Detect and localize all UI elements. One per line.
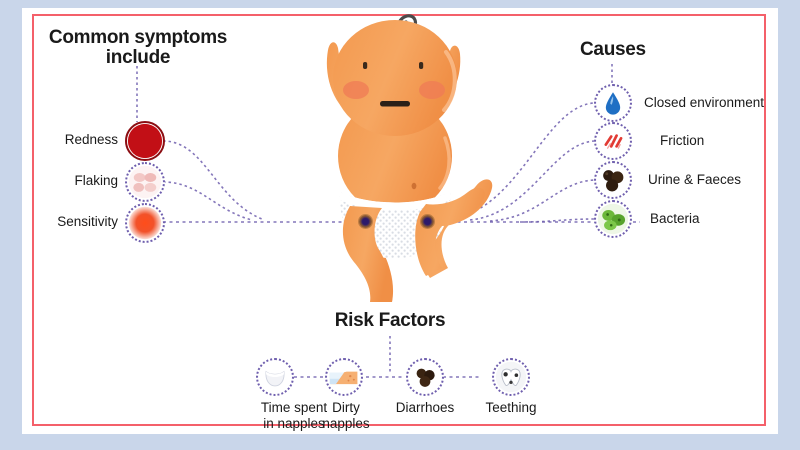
leg-connector-dot-right: [421, 215, 434, 228]
bacteria-icon: [594, 200, 632, 238]
water-drop-icon: [594, 84, 632, 122]
friction-icon: [594, 122, 632, 160]
baby-illustration: [280, 6, 510, 306]
sensitivity-icon: [125, 203, 165, 243]
cause-urine-faeces[interactable]: Urine & Faeces: [594, 161, 794, 199]
cause-label: Bacteria: [650, 211, 700, 226]
symptom-label: Sensitivity: [28, 214, 118, 229]
dirty-nappy-icon: [325, 358, 363, 396]
redness-icon: [125, 121, 165, 161]
cause-friction[interactable]: Friction: [594, 122, 794, 160]
risk-factors-heading: Risk Factors: [300, 311, 480, 331]
flaking-icon: [125, 162, 165, 202]
risk-teething[interactable]: Teething: [468, 358, 554, 430]
symptom-redness[interactable]: Redness: [40, 121, 165, 161]
risk-diarrhoes[interactable]: Diarrhoes: [382, 358, 468, 430]
symptom-label: Redness: [40, 132, 118, 147]
risk-label-line1: Dirty: [303, 400, 389, 415]
cause-closed-environment[interactable]: Closed environment: [594, 84, 794, 122]
risk-dirty-napples[interactable]: Dirty napples: [303, 358, 389, 430]
risk-label-line1: Diarrhoes: [382, 400, 468, 415]
risk-label-line1: Teething: [468, 400, 554, 415]
faeces-icon: [594, 161, 632, 199]
cause-bacteria[interactable]: Bacteria: [594, 200, 794, 238]
cause-label: Closed environment: [644, 95, 764, 110]
diarrhoea-icon: [406, 358, 444, 396]
infographic-canvas: Common symptoms include Causes Risk Fact…: [0, 0, 800, 450]
cause-label: Urine & Faeces: [648, 172, 741, 187]
symptom-sensitivity[interactable]: Sensitivity: [28, 203, 165, 243]
symptom-flaking[interactable]: Flaking: [40, 162, 165, 202]
leg-connector-dot-left: [359, 215, 372, 228]
symptoms-heading: Common symptoms include: [48, 28, 228, 68]
nappy-icon: [256, 358, 294, 396]
symptom-label: Flaking: [40, 173, 118, 188]
cause-label: Friction: [660, 133, 704, 148]
causes-heading: Causes: [580, 40, 700, 60]
teething-icon: [492, 358, 530, 396]
risk-label-line2: napples: [303, 416, 389, 431]
